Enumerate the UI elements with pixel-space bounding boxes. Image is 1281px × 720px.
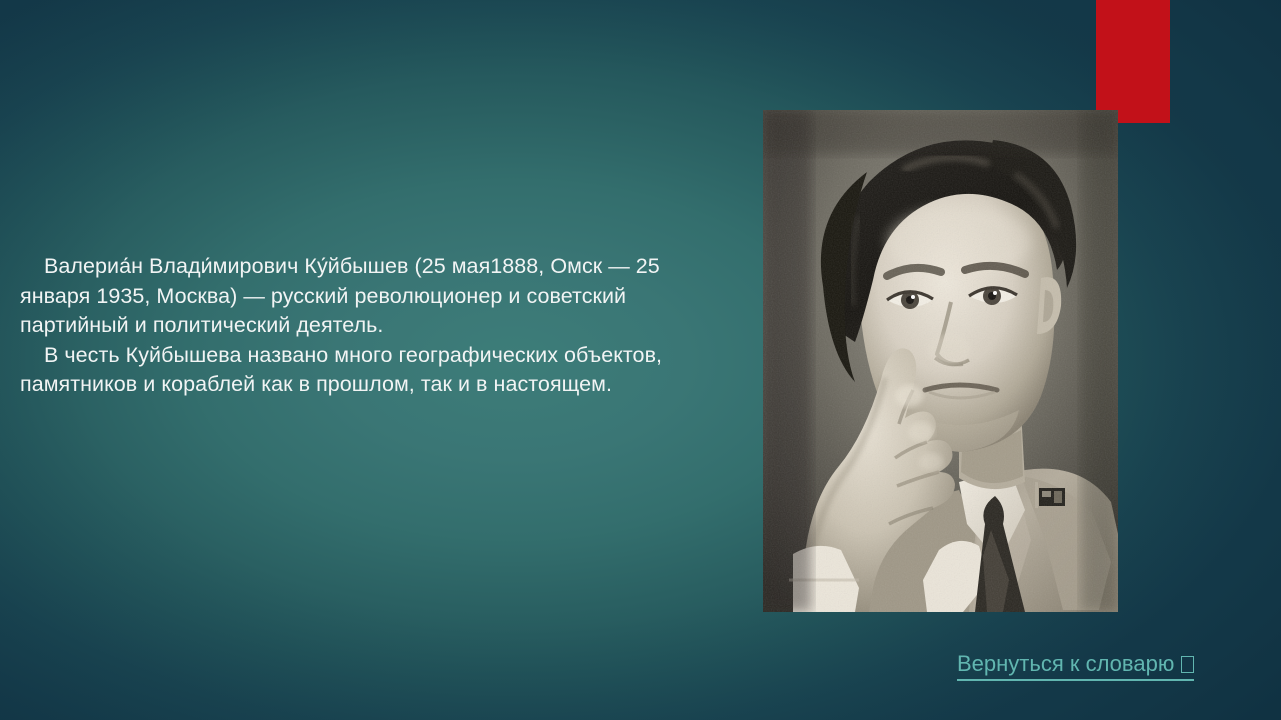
return-to-dictionary-link[interactable]: Вернуться к словарю	[957, 650, 1194, 681]
return-to-dictionary-label: Вернуться к словарю	[957, 651, 1174, 676]
portrait-photo-image	[763, 110, 1118, 612]
red-accent-rectangle	[1096, 0, 1170, 123]
missing-glyph-box-icon	[1181, 656, 1194, 673]
presentation-slide: Валериа́н Влади́мирович Ку́йбышев (25 ма…	[0, 0, 1281, 720]
portrait-photo	[763, 110, 1118, 612]
slide-body-text: Валериа́н Влади́мирович Ку́йбышев (25 ма…	[20, 252, 692, 400]
paragraph-legacy: В честь Куйбышева названо много географи…	[20, 341, 692, 400]
paragraph-biography: Валериа́н Влади́мирович Ку́йбышев (25 ма…	[20, 252, 692, 341]
